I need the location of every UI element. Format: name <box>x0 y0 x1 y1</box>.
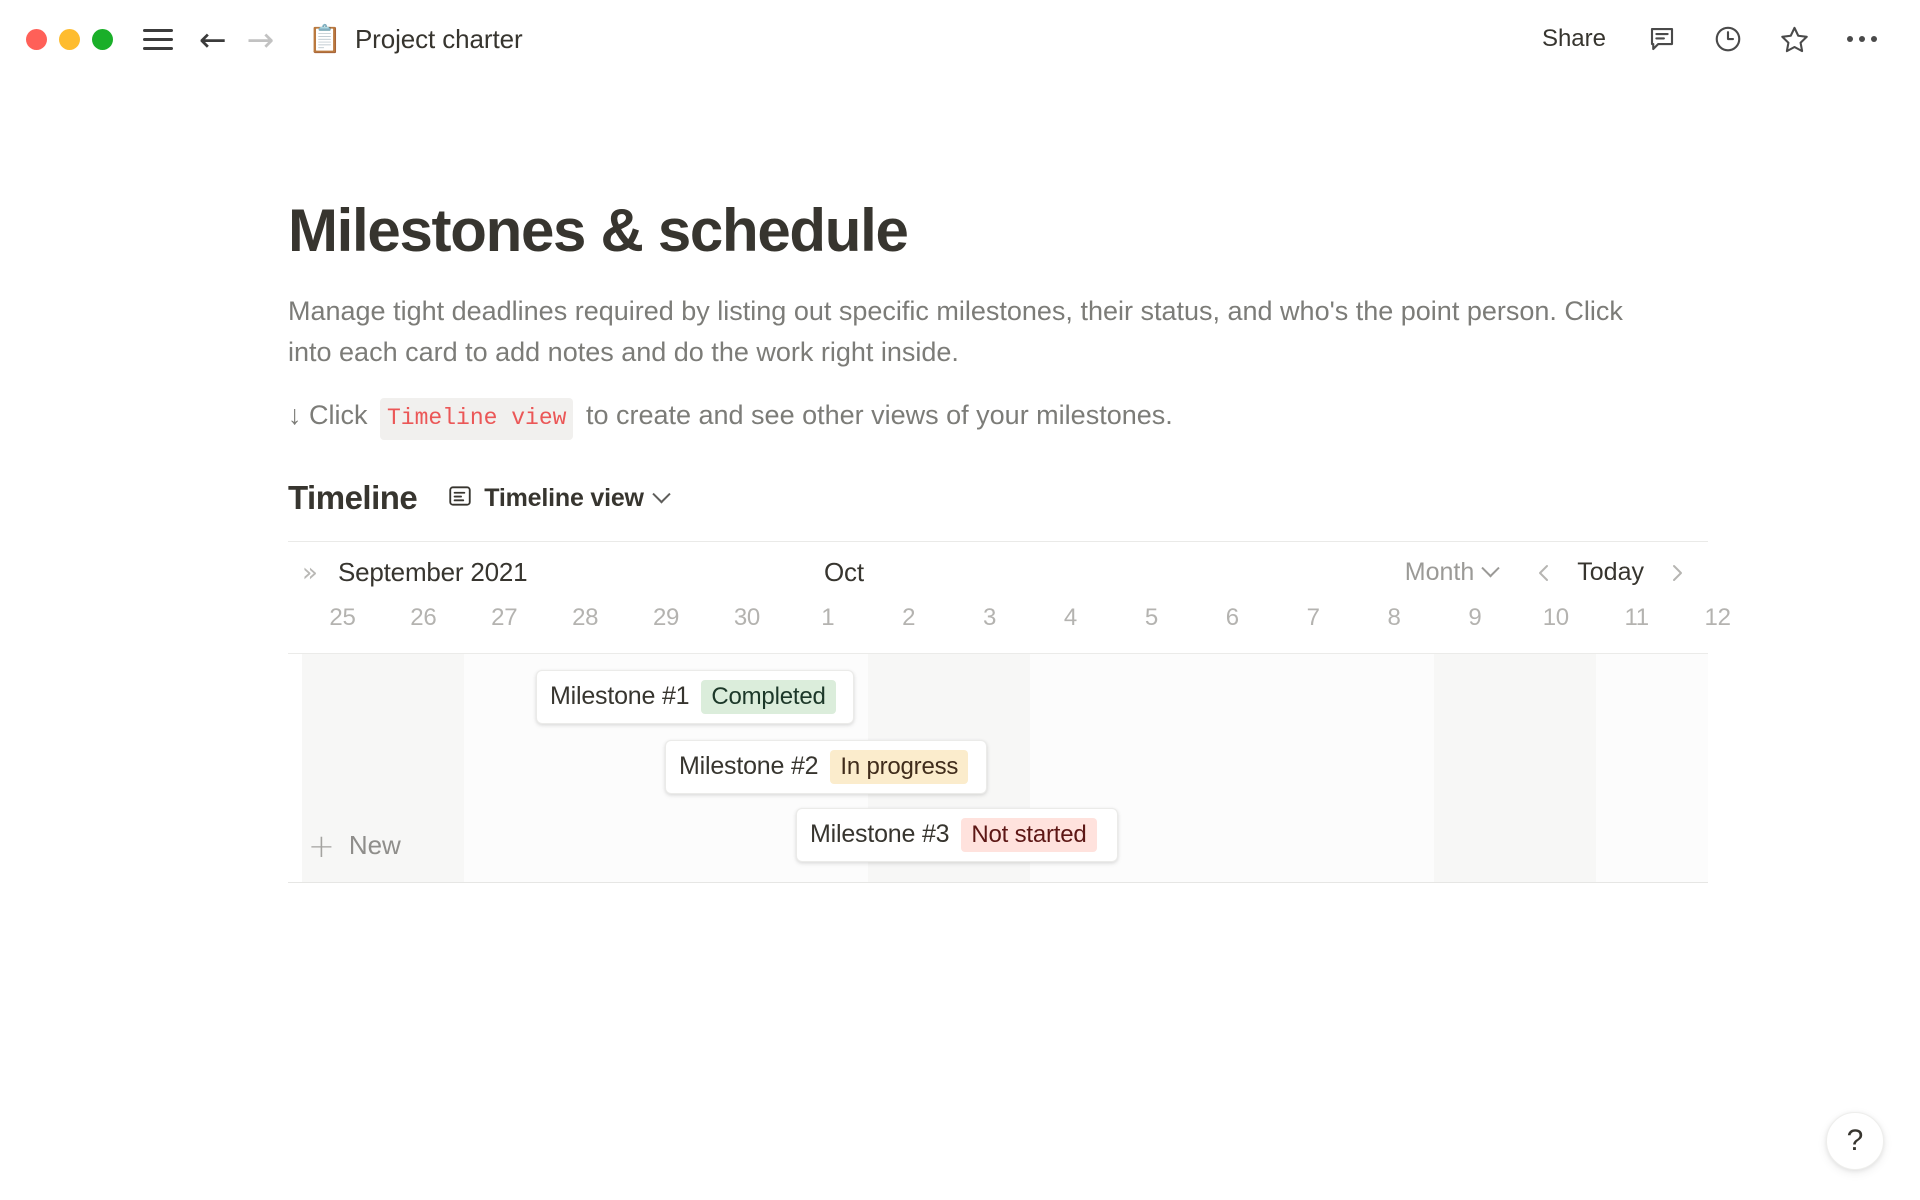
page-title: Milestones & schedule <box>288 196 1670 265</box>
timeline-day-5: 5 <box>1111 604 1192 632</box>
close-button[interactable] <box>26 29 47 50</box>
timeline-header: Timeline Timeline view <box>288 478 1670 519</box>
arrow-left-icon[interactable]: ← <box>189 23 237 56</box>
share-button[interactable]: Share <box>1532 19 1616 59</box>
timeline-day-25: 25 <box>302 604 383 632</box>
timeline-bar[interactable]: Milestone #1Completed <box>536 670 854 724</box>
clipboard-icon: 📋 <box>308 26 342 53</box>
window-controls <box>26 29 113 50</box>
timeline-day-7: 7 <box>1273 604 1354 632</box>
arrow-right-icon[interactable]: → <box>237 23 285 56</box>
timeline-grid: Milestone #1CompletedMilestone #2In prog… <box>288 654 1708 882</box>
timeline-day-header: 252627282930123456789101112 <box>288 604 1708 654</box>
callout-line: ↓ Click Timeline view to create and see … <box>288 395 1670 440</box>
chevron-down-icon <box>1482 559 1500 577</box>
app-window: ← → 📋 Project charter Share <box>0 0 1920 1200</box>
plus-icon: + <box>308 830 335 862</box>
timeline-day-2: 2 <box>868 604 949 632</box>
star-icon[interactable] <box>1774 19 1814 59</box>
page-content: Milestones & schedule Manage tight deadl… <box>250 196 1670 883</box>
breadcrumb[interactable]: 📋 Project charter <box>300 20 530 59</box>
timeline-day-1: 1 <box>787 604 868 632</box>
chevron-down-icon <box>652 485 670 503</box>
titlebar-actions: Share <box>1532 19 1884 59</box>
more-horizontal-icon[interactable] <box>1840 19 1884 59</box>
inline-code-timeline-view[interactable]: Timeline view <box>380 398 573 440</box>
timeline-day-30: 30 <box>706 604 787 632</box>
timeline-day-26: 26 <box>383 604 464 632</box>
callout-suffix: to create and see other views of your mi… <box>578 395 1172 437</box>
timeline-day-29: 29 <box>626 604 707 632</box>
timeline-prev-button[interactable] <box>1523 552 1565 594</box>
timeline-day-4: 4 <box>1030 604 1111 632</box>
chevrons-right-icon[interactable]: » <box>302 560 332 586</box>
help-button[interactable]: ? <box>1826 1112 1884 1170</box>
add-new-row-label: New <box>349 830 401 861</box>
hamburger-icon[interactable] <box>143 29 173 50</box>
timeline-day-12: 12 <box>1677 604 1758 632</box>
timeline-day-10: 10 <box>1515 604 1596 632</box>
tab-timeline-view[interactable]: Timeline view <box>439 478 676 519</box>
zoom-button[interactable] <box>92 29 113 50</box>
document-title: Project charter <box>355 24 523 55</box>
timeline-view-icon <box>447 483 473 514</box>
status-badge: Completed <box>701 680 835 714</box>
timeline-widget: » September 2021 Oct Month <box>288 541 1708 883</box>
page-body: Milestones & schedule Manage tight deadl… <box>0 78 1920 883</box>
titlebar: ← → 📋 Project charter Share <box>0 0 1920 78</box>
timeline-scale-select[interactable]: Month <box>1395 554 1507 591</box>
timeline-day-3: 3 <box>949 604 1030 632</box>
comment-icon[interactable] <box>1642 19 1682 59</box>
tab-timeline-view-label: Timeline view <box>484 484 644 513</box>
timeline-month-label: September 2021 <box>338 557 527 588</box>
timeline-bars: Milestone #1CompletedMilestone #2In prog… <box>288 654 1708 882</box>
timeline-next-month-label: Oct <box>824 557 864 588</box>
timeline-day-8: 8 <box>1354 604 1435 632</box>
timeline-heading: Timeline <box>288 479 417 517</box>
callout-prefix: ↓ Click <box>288 395 375 437</box>
timeline-day-9: 9 <box>1434 604 1515 632</box>
status-badge: Not started <box>961 818 1096 852</box>
timeline-bar[interactable]: Milestone #2In progress <box>665 740 987 794</box>
timeline-toolbar-right: Month Today <box>1395 552 1708 594</box>
timeline-day-6: 6 <box>1192 604 1273 632</box>
timeline-bar-title: Milestone #1 <box>550 682 689 711</box>
minimize-button[interactable] <box>59 29 80 50</box>
timeline-scale-label: Month <box>1405 558 1474 587</box>
page-description: Manage tight deadlines required by listi… <box>288 291 1648 373</box>
timeline-day-28: 28 <box>545 604 626 632</box>
timeline-bar-title: Milestone #3 <box>810 820 949 849</box>
timeline-next-button[interactable] <box>1656 552 1698 594</box>
timeline-today-button[interactable]: Today <box>1565 554 1656 591</box>
clock-icon[interactable] <box>1708 19 1748 59</box>
timeline-toolbar: » September 2021 Oct Month <box>288 542 1708 604</box>
timeline-bar-title: Milestone #2 <box>679 752 818 781</box>
timeline-day-11: 11 <box>1596 604 1677 632</box>
status-badge: In progress <box>830 750 968 784</box>
timeline-bar[interactable]: Milestone #3Not started <box>796 808 1118 862</box>
add-new-row-button[interactable]: + New <box>302 824 413 868</box>
timeline-day-27: 27 <box>464 604 545 632</box>
